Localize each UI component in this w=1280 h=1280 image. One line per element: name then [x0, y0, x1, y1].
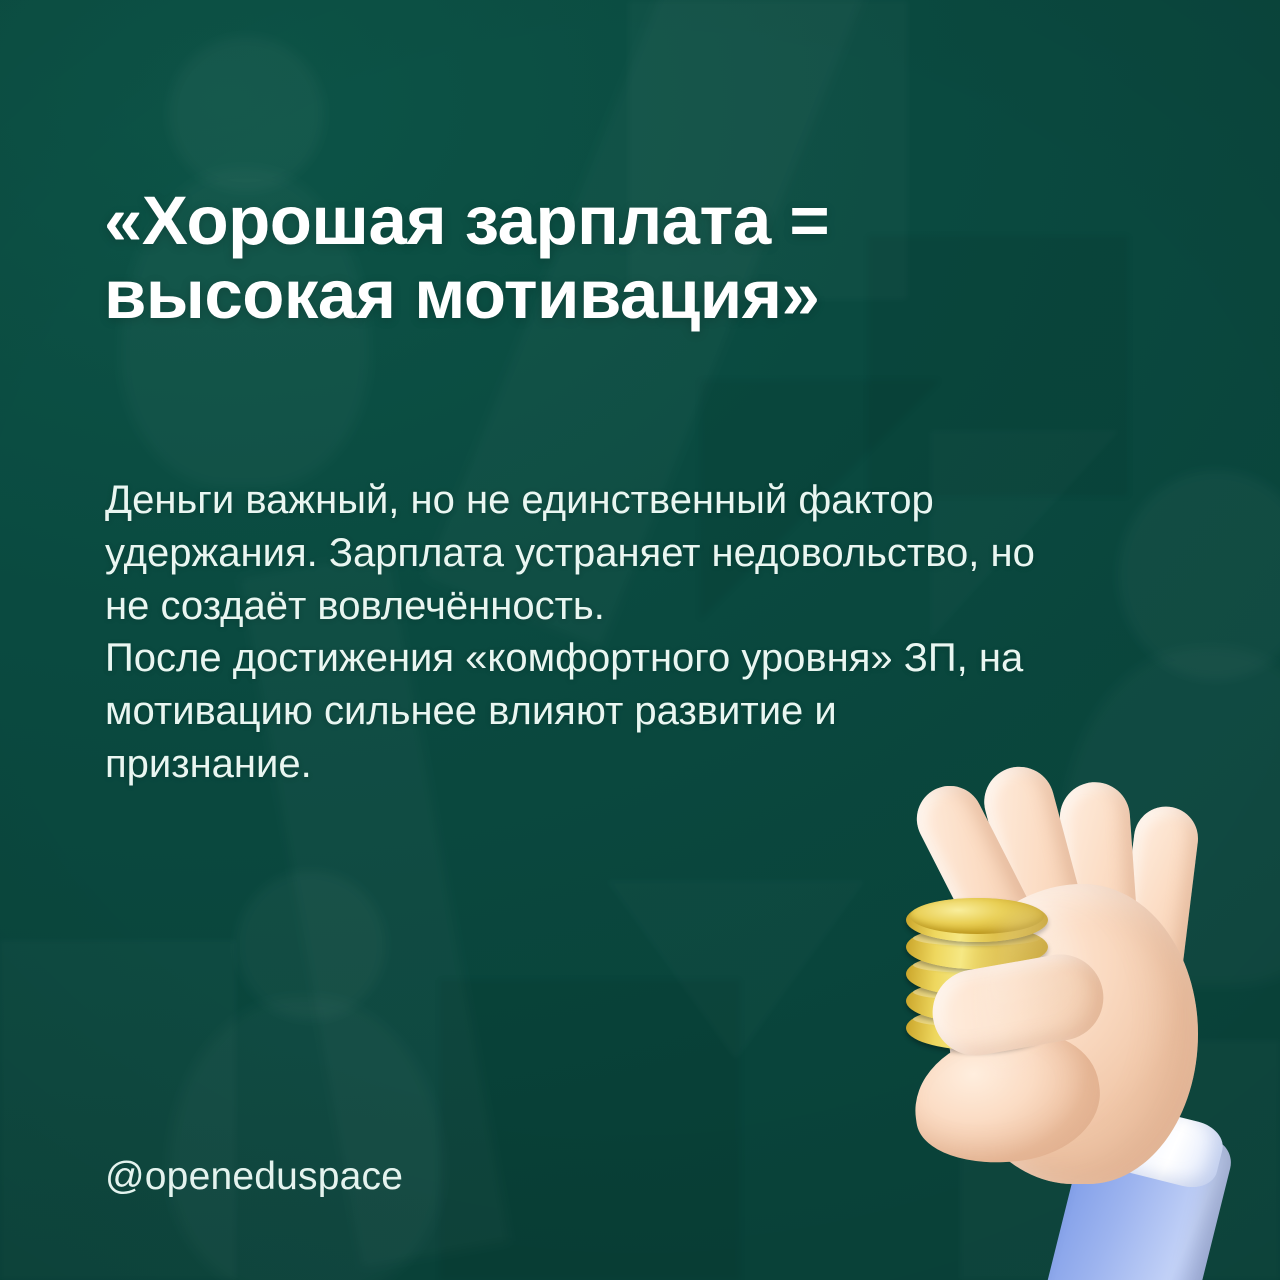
slide-canvas: «Хорошая зарплата = высокая мотивация» Д…: [0, 0, 1280, 1280]
social-handle: @openeduspace: [105, 1155, 403, 1199]
body-paragraph-1: Деньги важный, но не единственный фактор…: [105, 474, 1035, 632]
hand-highlight: [980, 906, 1090, 1116]
body-copy: Деньги важный, но не единственный фактор…: [105, 474, 1035, 791]
bg-silhouette-head-2: [1118, 470, 1280, 680]
page-title: «Хорошая зарплата = высокая мотивация»: [104, 184, 1034, 332]
hand-holding-coins-illustration: [888, 756, 1280, 1280]
